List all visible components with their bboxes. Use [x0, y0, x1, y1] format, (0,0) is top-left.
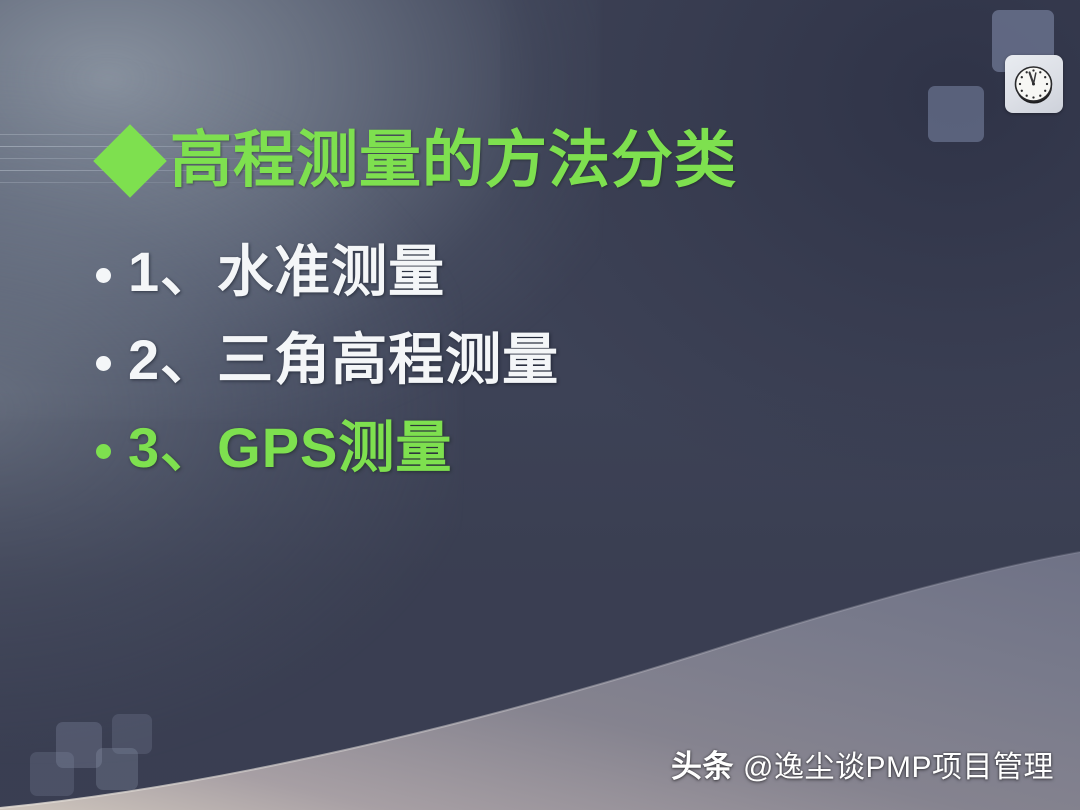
bullet-dot-icon — [96, 444, 111, 459]
list-item-label: 3、GPS测量 — [128, 420, 452, 476]
watermark-brand: 头条 — [671, 741, 734, 786]
watermark-handle: @逸尘谈PMP项目管理 — [743, 742, 1054, 786]
slide-title: 高程测量的方法分类 — [104, 130, 737, 192]
bullet-dot-icon — [96, 356, 111, 371]
list-item: 2、三角高程测量 — [96, 316, 956, 404]
page-title: 高程测量的方法分类 — [170, 130, 737, 192]
diamond-bullet-icon — [93, 124, 167, 198]
watermark: 头条 @逸尘谈PMP项目管理 — [671, 741, 1054, 786]
presentation-slide: 高程测量的方法分类 1、水准测量 2、三角高程测量 3、GPS测量 头条 @逸尘… — [0, 0, 1080, 810]
list-item-label: 2、三角高程测量 — [128, 332, 559, 388]
list-item: 3、GPS测量 — [96, 404, 956, 492]
bullet-list: 1、水准测量 2、三角高程测量 3、GPS测量 — [96, 228, 956, 492]
bullet-dot-icon — [96, 268, 111, 283]
list-item-label: 1、水准测量 — [128, 244, 445, 300]
slide-content: 高程测量的方法分类 1、水准测量 2、三角高程测量 3、GPS测量 头条 @逸尘… — [0, 0, 1080, 810]
list-item: 1、水准测量 — [96, 228, 956, 316]
